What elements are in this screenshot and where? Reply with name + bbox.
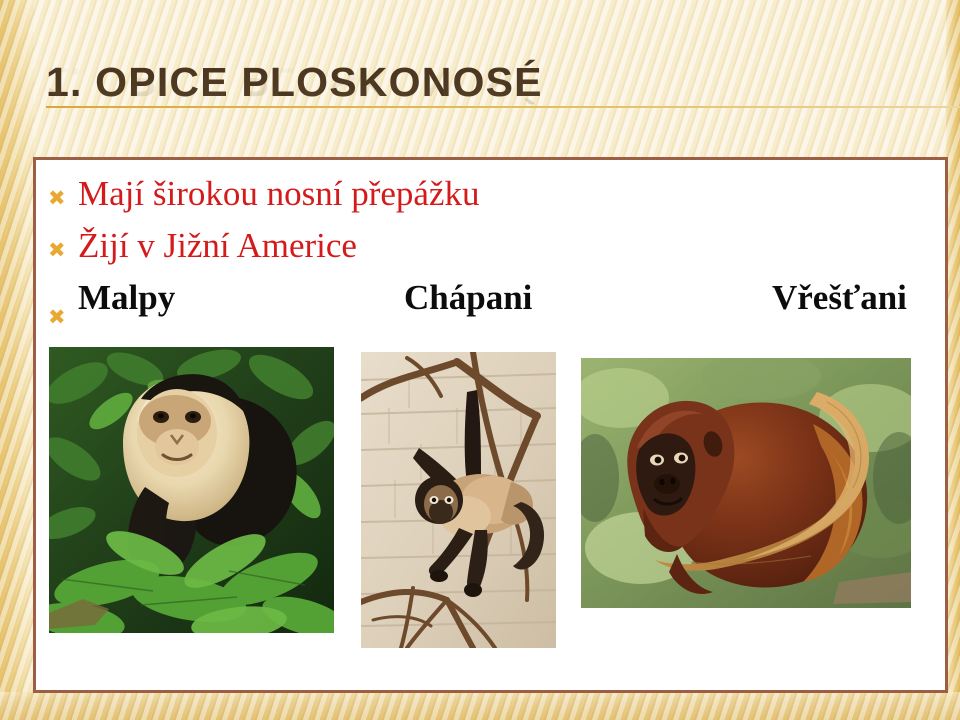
photo-strip xyxy=(36,346,951,676)
howler-monkey-illustration xyxy=(581,358,911,608)
spider-monkey-photo xyxy=(361,352,556,648)
capuchin-illustration xyxy=(49,347,334,633)
bullet-cross-icon: ✖ xyxy=(48,307,78,328)
species-label-group: Malpy Chápani Vřešťani xyxy=(78,278,935,324)
bullet-text: Mají širokou nosní přepážku xyxy=(78,174,479,214)
bullet-cross-icon: ✖ xyxy=(48,188,78,209)
species-bullet-item: ✖ Malpy Chápani Vřešťani xyxy=(48,278,935,334)
howler-monkey-photo xyxy=(581,358,911,608)
bottom-gold-band xyxy=(0,692,960,720)
title-zone: 1. Opice ploskonosé 1. Opice ploskonosé xyxy=(46,58,960,154)
capuchin-photo xyxy=(49,347,334,633)
spider-monkey-illustration xyxy=(361,352,556,648)
species-label-malpy: Malpy xyxy=(78,278,175,318)
slide: 1. Opice ploskonosé 1. Opice ploskonosé … xyxy=(0,0,960,720)
bullet-list: ✖ Mají širokou nosní přepážku ✖ Žijí v J… xyxy=(48,174,935,334)
species-label-vrestani: Vřešťani xyxy=(772,278,907,318)
bullet-item: ✖ Žijí v Jižní Americe xyxy=(48,226,935,278)
species-label-chapani: Chápani xyxy=(404,278,532,318)
title-underline-rule xyxy=(46,106,960,108)
bullet-text: Žijí v Jižní Americe xyxy=(78,226,357,266)
content-box: ✖ Mají širokou nosní přepážku ✖ Žijí v J… xyxy=(33,157,948,693)
left-gold-band xyxy=(0,0,34,720)
bullet-cross-icon: ✖ xyxy=(48,240,78,261)
slide-title-reflection: 1. Opice ploskonosé xyxy=(46,58,960,106)
bullet-item: ✖ Mají širokou nosní přepážku xyxy=(48,174,935,226)
